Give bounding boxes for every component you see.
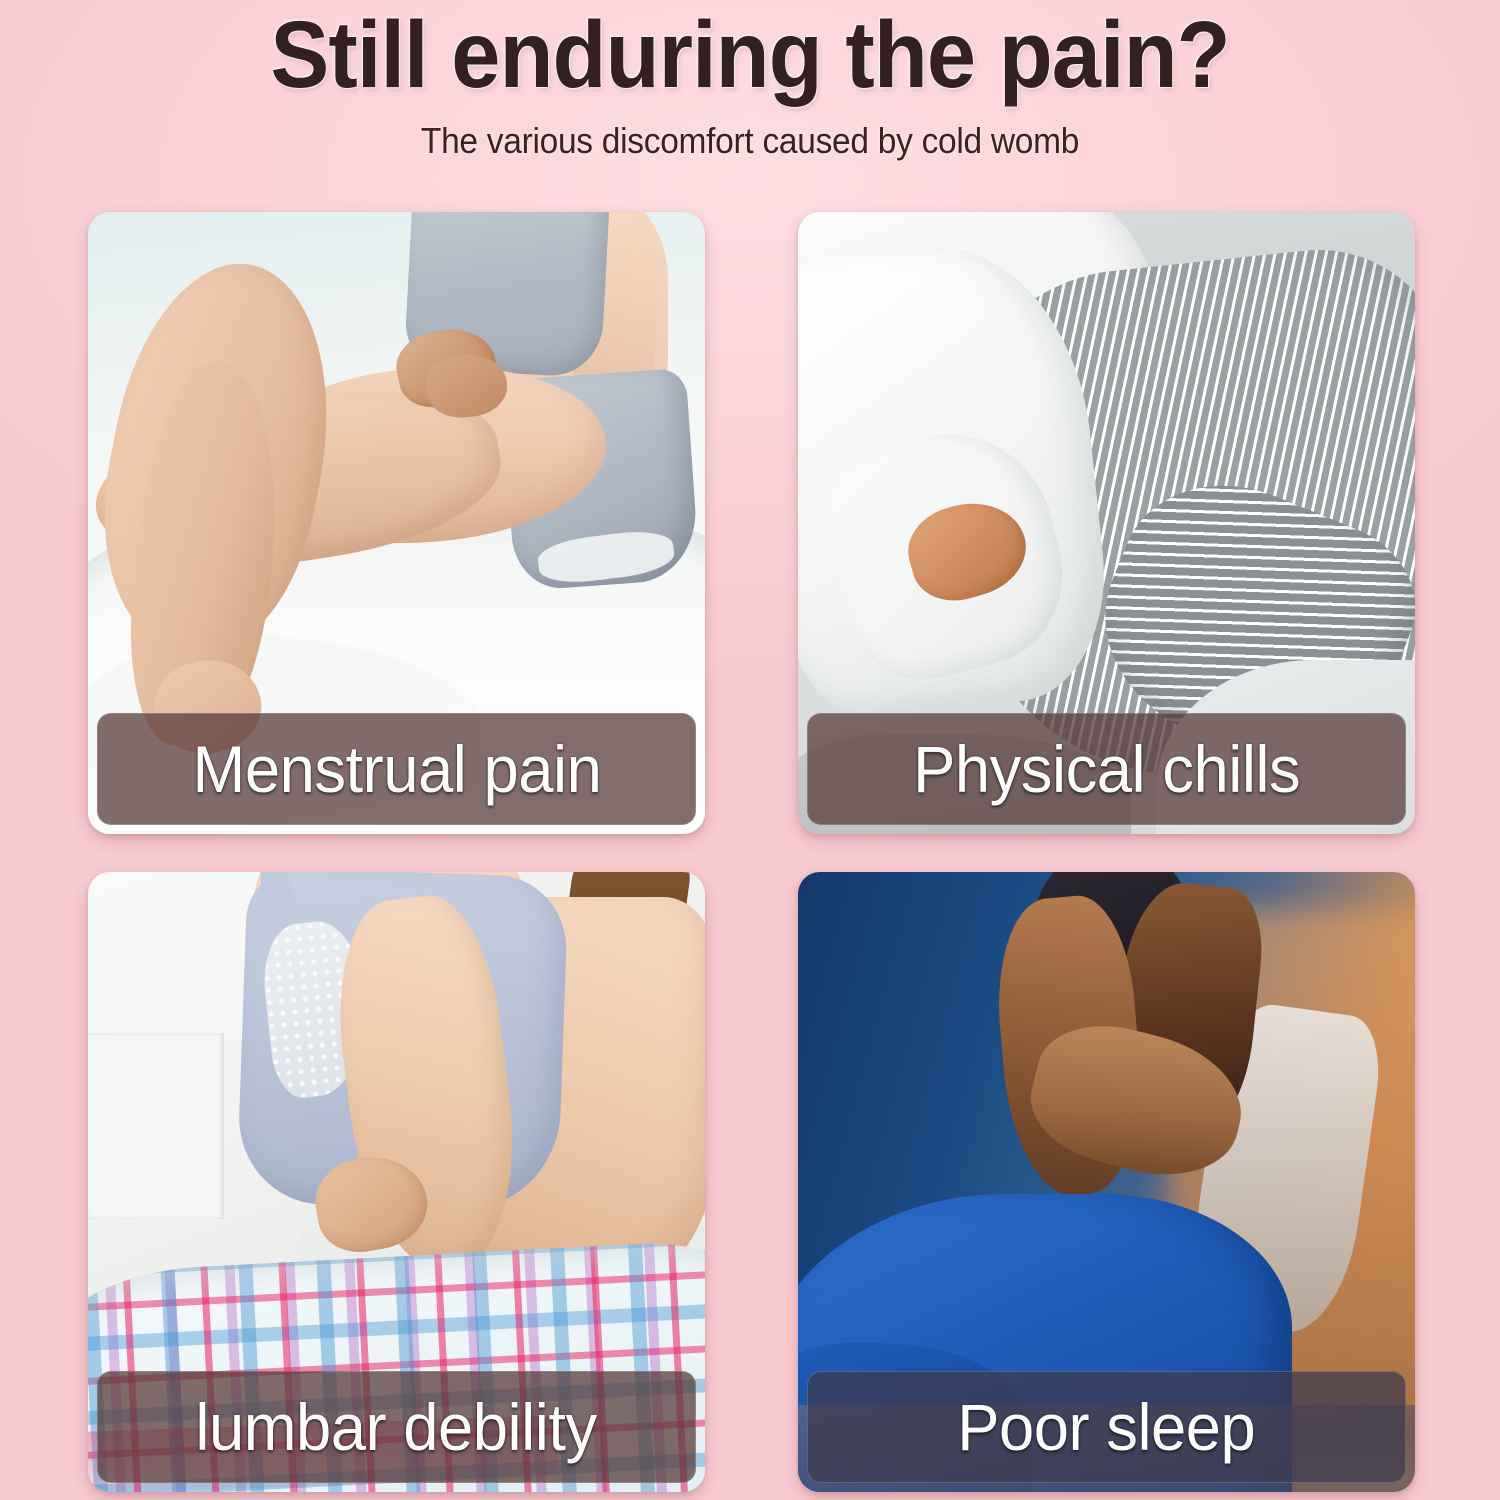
symptom-card-poor-sleep[interactable]: Poor sleep [798,872,1415,1492]
promo-infographic: Still enduring the pain? The various dis… [0,0,1500,1500]
symptom-grid: Menstrual pain Physical chills [88,212,1415,1492]
symptom-card-lumbar-debility[interactable]: lumbar debility [88,872,705,1492]
symptom-label-bar-poor-sleep: Poor sleep [807,1371,1406,1483]
symptom-label-lumbar-debility: lumbar debility [196,1394,597,1460]
symptom-card-menstrual-pain[interactable]: Menstrual pain [88,212,705,834]
page-title: Still enduring the pain? [53,6,1448,106]
page-subtitle: The various discomfort caused by cold wo… [53,120,1448,162]
symptom-card-physical-chills[interactable]: Physical chills [798,212,1415,834]
symptom-label-poor-sleep: Poor sleep [957,1394,1255,1460]
symptom-label-physical-chills: Physical chills [913,736,1300,802]
symptom-label-bar-physical-chills: Physical chills [807,713,1406,825]
symptom-label-menstrual-pain: Menstrual pain [192,736,601,802]
symptom-label-bar-menstrual-pain: Menstrual pain [97,713,696,825]
symptom-label-bar-lumbar-debility: lumbar debility [97,1371,696,1483]
header: Still enduring the pain? The various dis… [0,0,1500,162]
